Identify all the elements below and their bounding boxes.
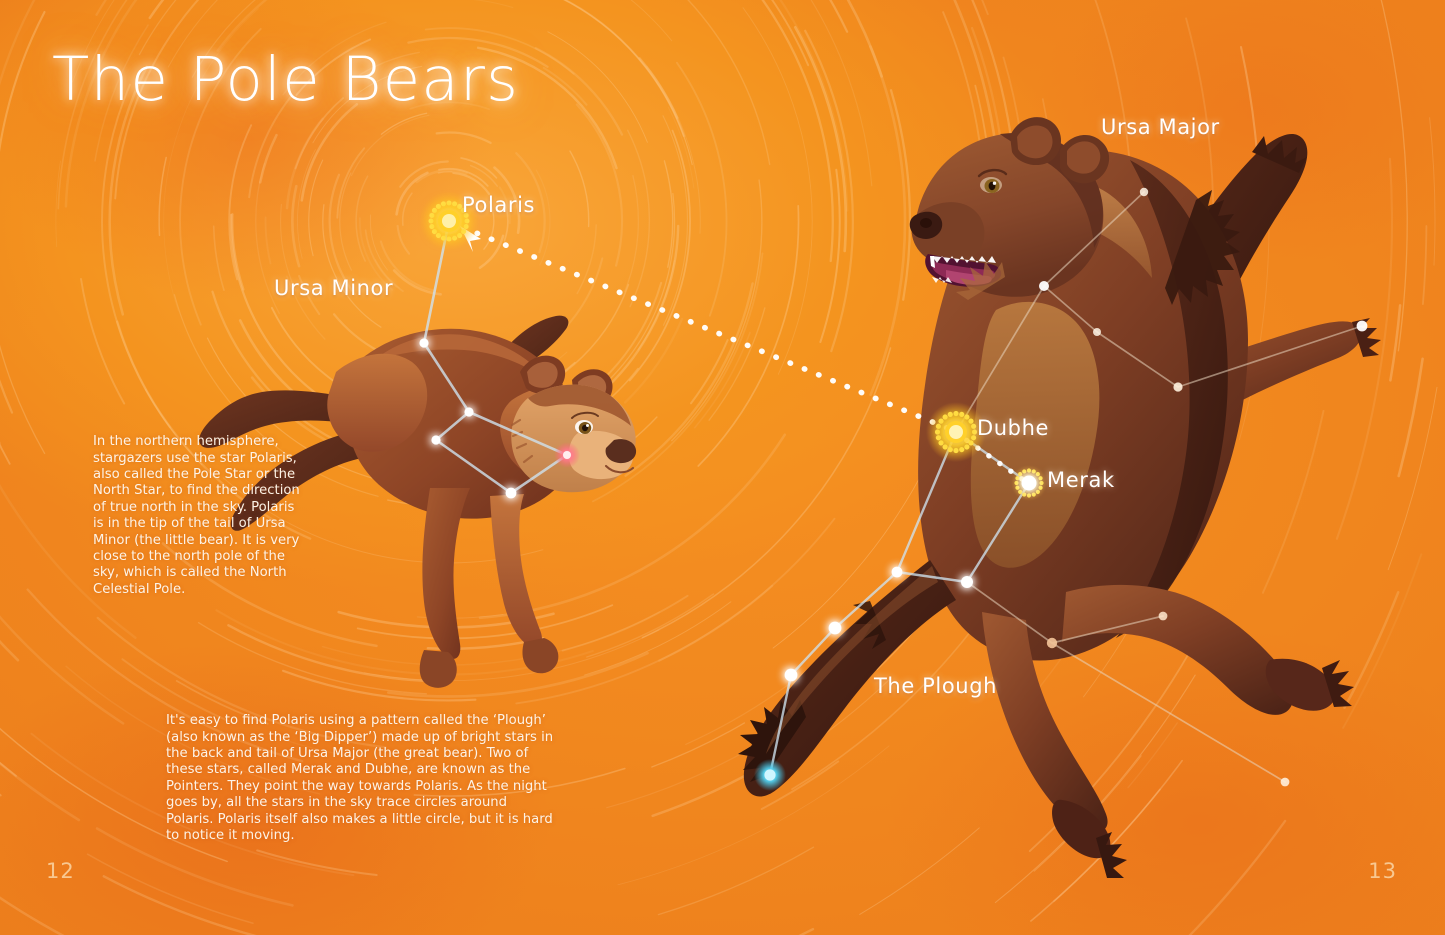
label-dubhe: Dubhe [977, 416, 1049, 440]
label-ursa-major: Ursa Major [1101, 115, 1220, 139]
page-title: The Pole Bears [52, 44, 519, 115]
label-polaris: Polaris [462, 193, 535, 217]
paragraph-bottom: It's easy to find Polaris using a patter… [166, 713, 556, 844]
ursa-minor-stars [419, 338, 516, 498]
page-number-left: 12 [46, 859, 75, 883]
label-ursa-minor: Ursa Minor [274, 276, 393, 300]
plough-tail-cyan-star [754, 759, 786, 791]
ursa-minor-pink-star [554, 442, 580, 468]
label-merak: Merak [1047, 468, 1115, 492]
star-merak [1011, 465, 1047, 501]
label-the-plough: The Plough [874, 674, 997, 698]
storybook-spread: The Pole Bears In the northern hemispher… [0, 0, 1445, 935]
page-number-right: 13 [1368, 859, 1397, 883]
plough-stars [785, 567, 973, 682]
paragraph-left: In the northern hemisphere, stargazers u… [93, 434, 305, 598]
plough-lines [770, 432, 1029, 775]
ursa-minor-lines [424, 221, 567, 493]
